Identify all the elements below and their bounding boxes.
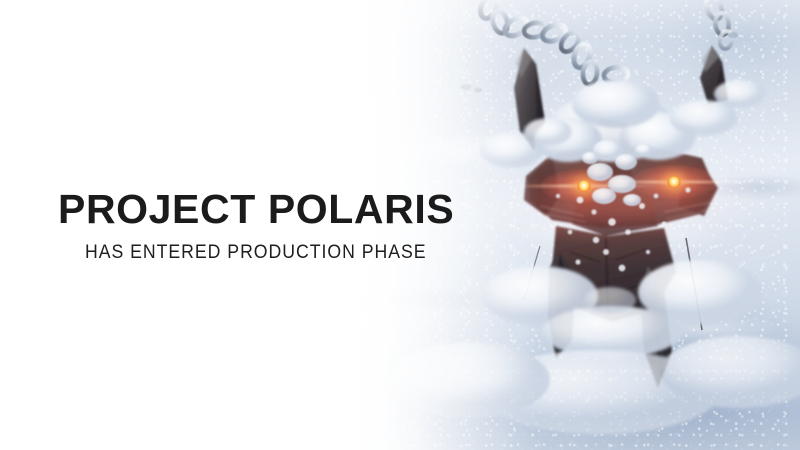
announcement-banner: PROJECT POLARIS HAS ENTERED PRODUCTION P… [0,0,800,450]
announcement-text-block: PROJECT POLARIS HAS ENTERED PRODUCTION P… [58,186,478,264]
left-horn-icon [514,48,545,150]
page-title: PROJECT POLARIS [58,186,478,232]
page-subtitle: HAS ENTERED PRODUCTION PHASE [85,242,450,264]
right-horn-icon [700,45,728,104]
